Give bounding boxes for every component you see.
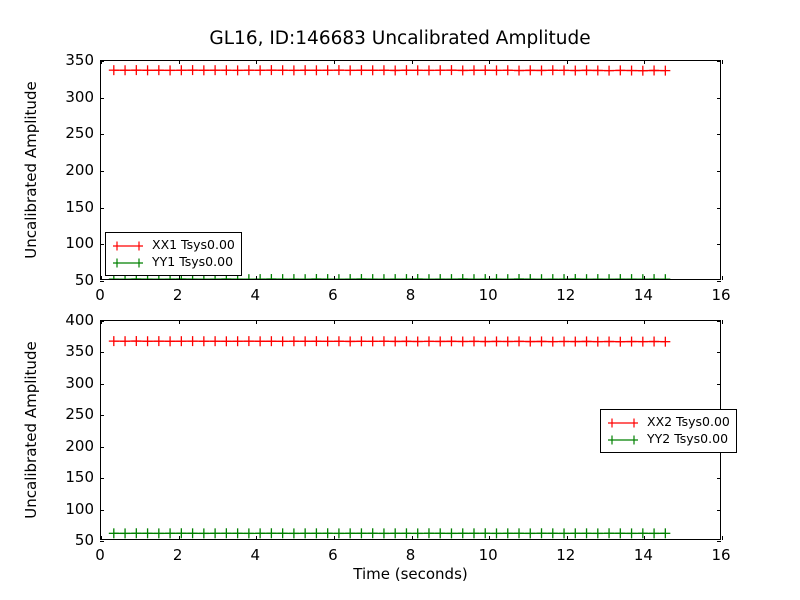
figure-title: GL16, ID:146683 Uncalibrated Amplitude bbox=[0, 28, 800, 49]
legend-entry-xx2: XX2 Tsys0.00 bbox=[606, 414, 730, 431]
y-tick-top bbox=[100, 61, 104, 62]
x-tick-bottom bbox=[722, 536, 723, 540]
series-xx1 bbox=[109, 65, 671, 76]
x-tick-top bbox=[489, 276, 490, 280]
legend-entry-xx1: XX1 Tsys0.00 bbox=[111, 237, 235, 254]
x-tick-top bbox=[179, 276, 180, 280]
y-tick-top bbox=[100, 98, 104, 99]
x-tick-label-bottom: 12 bbox=[556, 546, 575, 564]
y-tick-label-bottom: 300 bbox=[48, 374, 94, 392]
y-tick-bottom bbox=[100, 478, 104, 479]
y-tick-label-bottom: 150 bbox=[48, 468, 94, 486]
x-tick-label-top: 10 bbox=[479, 286, 498, 304]
y-tick-bottom bbox=[100, 415, 104, 416]
y-tick-bottom bbox=[717, 478, 721, 479]
y-tick-top bbox=[717, 171, 721, 172]
y-tick-top bbox=[717, 208, 721, 209]
x-tick-label-bottom: 6 bbox=[328, 546, 338, 564]
x-tick-top bbox=[334, 276, 335, 280]
y-tick-top bbox=[717, 244, 721, 245]
x-tick-label-top: 2 bbox=[173, 286, 183, 304]
y-tick-top bbox=[717, 98, 721, 99]
x-tick-top bbox=[179, 60, 180, 64]
x-tick-bottom bbox=[489, 536, 490, 540]
y-tick-label-top: 250 bbox=[48, 124, 94, 142]
x-tick-top bbox=[644, 60, 645, 64]
legend-swatch-yy2 bbox=[606, 433, 640, 447]
y-tick-bottom bbox=[100, 541, 104, 542]
legend-entry-yy1: YY1 Tsys0.00 bbox=[111, 254, 235, 271]
x-axis-label: Time (seconds) bbox=[353, 565, 468, 583]
x-tick-label-top: 6 bbox=[328, 286, 338, 304]
x-tick-bottom bbox=[567, 320, 568, 324]
x-tick-top bbox=[567, 276, 568, 280]
legend-swatch-xx2 bbox=[606, 416, 640, 430]
x-tick-bottom bbox=[489, 320, 490, 324]
y-tick-bottom bbox=[100, 352, 104, 353]
y-tick-label-bottom: 250 bbox=[48, 405, 94, 423]
y-tick-label-top: 200 bbox=[48, 161, 94, 179]
y-tick-top bbox=[717, 61, 721, 62]
x-tick-label-bottom: 16 bbox=[711, 546, 730, 564]
x-tick-label-bottom: 2 bbox=[173, 546, 183, 564]
x-tick-top bbox=[412, 60, 413, 64]
legend-label-yy1: YY1 Tsys0.00 bbox=[152, 256, 233, 269]
x-tick-bottom bbox=[256, 536, 257, 540]
x-tick-bottom bbox=[567, 536, 568, 540]
x-tick-top bbox=[412, 276, 413, 280]
y-tick-bottom bbox=[717, 384, 721, 385]
x-tick-label-top: 12 bbox=[556, 286, 575, 304]
legend-swatch-yy1 bbox=[111, 256, 145, 270]
legend-top[interactable]: XX1 Tsys0.00 YY1 Tsys0.00 bbox=[105, 232, 242, 276]
x-tick-label-top: 14 bbox=[634, 286, 653, 304]
x-tick-top bbox=[256, 276, 257, 280]
x-tick-bottom bbox=[179, 536, 180, 540]
y-tick-bottom bbox=[717, 321, 721, 322]
y-tick-top bbox=[717, 134, 721, 135]
y-tick-top bbox=[100, 208, 104, 209]
series-yy2 bbox=[109, 528, 671, 538]
y-tick-label-bottom: 50 bbox=[48, 531, 94, 549]
legend-label-xx1: XX1 Tsys0.00 bbox=[152, 239, 235, 252]
x-tick-bottom bbox=[334, 320, 335, 324]
x-tick-top bbox=[567, 60, 568, 64]
x-tick-bottom bbox=[334, 536, 335, 540]
legend-bottom[interactable]: XX2 Tsys0.00 YY2 Tsys0.00 bbox=[600, 409, 737, 453]
y-tick-top bbox=[717, 281, 721, 282]
x-tick-top bbox=[722, 276, 723, 280]
y-tick-label-top: 50 bbox=[48, 271, 94, 289]
y-tick-label-top: 300 bbox=[48, 88, 94, 106]
x-tick-top bbox=[722, 60, 723, 64]
x-tick-bottom bbox=[644, 320, 645, 324]
y-tick-label-bottom: 200 bbox=[48, 437, 94, 455]
x-tick-label-top: 0 bbox=[95, 286, 105, 304]
y-tick-label-bottom: 350 bbox=[48, 342, 94, 360]
x-tick-bottom bbox=[722, 320, 723, 324]
x-tick-bottom bbox=[179, 320, 180, 324]
x-tick-bottom bbox=[256, 320, 257, 324]
x-tick-label-bottom: 10 bbox=[479, 546, 498, 564]
y-tick-bottom bbox=[100, 384, 104, 385]
x-tick-top bbox=[101, 276, 102, 280]
x-tick-top bbox=[644, 276, 645, 280]
x-tick-bottom bbox=[644, 536, 645, 540]
x-tick-top bbox=[334, 60, 335, 64]
y-tick-label-top: 100 bbox=[48, 234, 94, 252]
x-tick-label-bottom: 14 bbox=[634, 546, 653, 564]
y-tick-bottom bbox=[717, 352, 721, 353]
legend-label-yy2: YY2 Tsys0.00 bbox=[647, 433, 728, 446]
y-tick-bottom bbox=[100, 510, 104, 511]
legend-swatch-xx1 bbox=[111, 239, 145, 253]
y-tick-label-bottom: 100 bbox=[48, 500, 94, 518]
series-xx2 bbox=[109, 336, 671, 347]
y-tick-label-bottom: 400 bbox=[48, 311, 94, 329]
y-tick-top bbox=[100, 281, 104, 282]
y-axis-label-bottom: Uncalibrated Amplitude bbox=[22, 320, 40, 540]
x-tick-top bbox=[256, 60, 257, 64]
y-tick-label-top: 350 bbox=[48, 51, 94, 69]
y-tick-bottom bbox=[717, 510, 721, 511]
x-tick-label-bottom: 8 bbox=[406, 546, 416, 564]
x-tick-label-top: 8 bbox=[406, 286, 416, 304]
x-tick-label-top: 4 bbox=[250, 286, 260, 304]
x-tick-label-bottom: 0 bbox=[95, 546, 105, 564]
y-tick-label-top: 150 bbox=[48, 198, 94, 216]
y-tick-top bbox=[100, 134, 104, 135]
x-tick-bottom bbox=[412, 536, 413, 540]
legend-label-xx2: XX2 Tsys0.00 bbox=[647, 416, 730, 429]
x-tick-label-top: 16 bbox=[711, 286, 730, 304]
y-tick-top bbox=[100, 171, 104, 172]
y-tick-bottom bbox=[100, 321, 104, 322]
x-tick-bottom bbox=[101, 536, 102, 540]
y-axis-label-top: Uncalibrated Amplitude bbox=[22, 60, 40, 280]
legend-entry-yy2: YY2 Tsys0.00 bbox=[606, 431, 730, 448]
y-tick-bottom bbox=[100, 447, 104, 448]
y-tick-bottom bbox=[717, 541, 721, 542]
y-tick-top bbox=[100, 244, 104, 245]
figure-canvas: GL16, ID:146683 Uncalibrated Amplitude U… bbox=[0, 0, 800, 600]
x-tick-top bbox=[489, 60, 490, 64]
x-tick-bottom bbox=[412, 320, 413, 324]
x-tick-label-bottom: 4 bbox=[250, 546, 260, 564]
